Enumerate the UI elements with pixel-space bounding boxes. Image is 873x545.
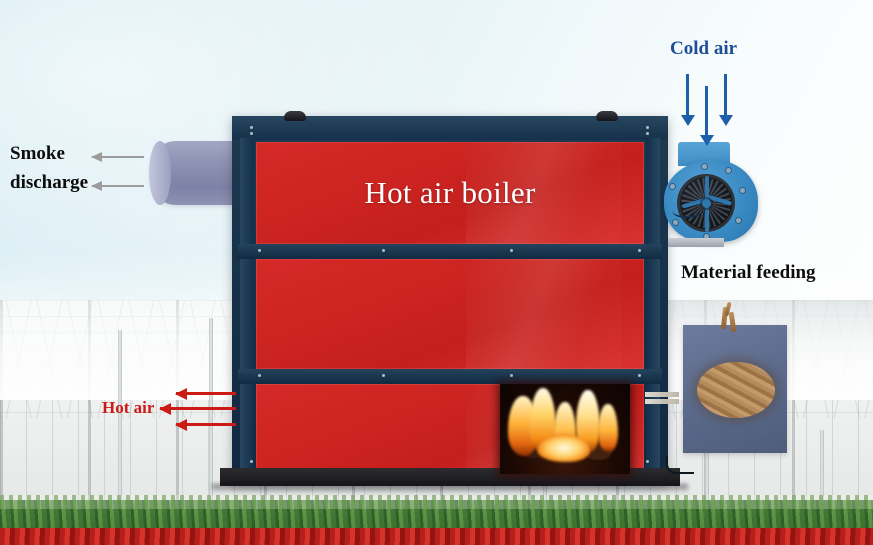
- cold-air-arrow-right: [724, 74, 727, 116]
- smoke-arrow-upper: [92, 156, 144, 158]
- cold-air-arrow-left: [686, 74, 689, 116]
- centrifugal-blower-fan: [664, 142, 758, 250]
- boiler-title-text: Hot air boiler: [256, 142, 644, 244]
- wood-pellet-pile: [697, 362, 775, 418]
- boiler-right-post: [646, 138, 660, 468]
- frame-sticker-upper: [645, 392, 679, 397]
- diagram-canvas: Smoke discharge Hot air boiler: [0, 0, 873, 545]
- cold-air-arrow-center: [705, 86, 708, 136]
- boiler-crossbar-lower: [238, 369, 662, 384]
- hot-air-label: Hot air: [102, 398, 154, 418]
- hot-air-arrow-top: [176, 392, 236, 395]
- blower-mounting-foot: [668, 238, 724, 247]
- lifting-lug-left: [284, 111, 306, 121]
- smoke-duct-end-cap: [149, 141, 171, 205]
- blower-hub: [702, 199, 711, 208]
- power-cable: [666, 456, 694, 474]
- cold-air-label: Cold air: [670, 38, 737, 60]
- smoke-discharge-label-line1: Smoke: [10, 143, 65, 165]
- boiler-panel-middle: [256, 259, 644, 369]
- smoke-discharge-label-line2: discharge: [10, 172, 88, 194]
- frame-sticker-lower: [645, 399, 679, 404]
- lifting-lug-right: [596, 111, 618, 121]
- hot-air-arrow-bottom: [176, 423, 236, 426]
- boiler-crossbar-upper: [238, 244, 662, 259]
- greenhouse-flower-row: [0, 528, 873, 545]
- boiler-ground-shadow: [212, 484, 688, 493]
- hot-air-arrow-middle: [160, 407, 236, 410]
- smoke-arrow-lower: [92, 185, 144, 187]
- combustion-chamber-flame-photo: [500, 384, 630, 474]
- material-feeding-label: Material feeding: [681, 262, 816, 284]
- boiler-left-post: [240, 138, 254, 468]
